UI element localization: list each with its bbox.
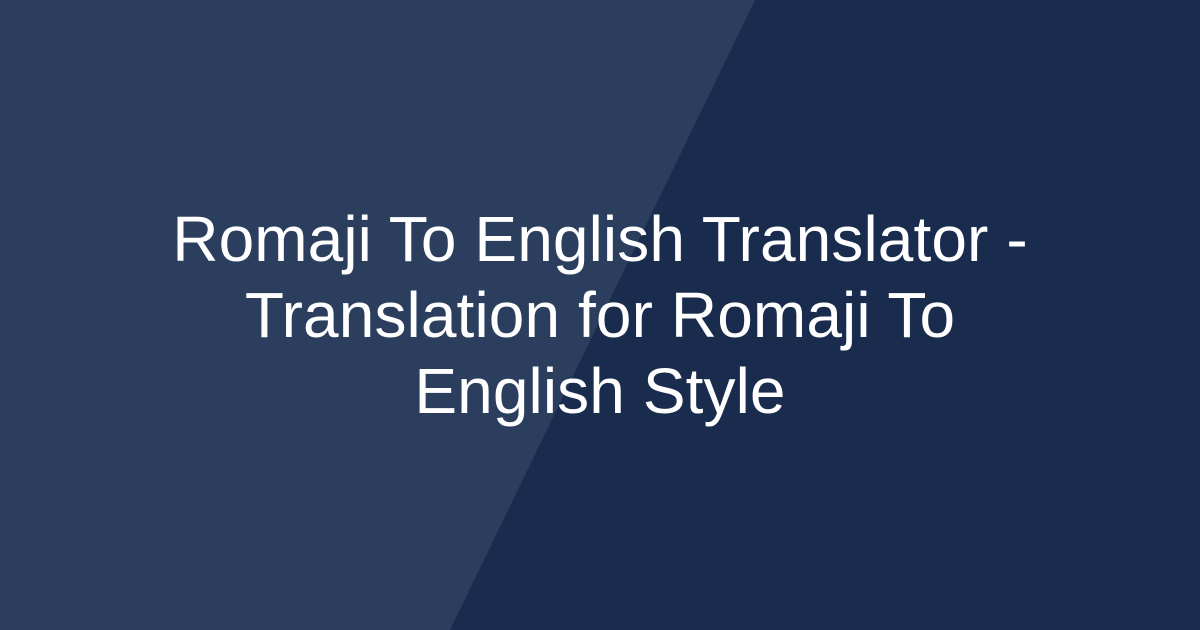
social-share-card: Romaji To English Translator - Translati… [0,0,1200,630]
headline-container: Romaji To English Translator - Translati… [0,0,1200,630]
page-title: Romaji To English Translator - Translati… [135,201,1065,429]
